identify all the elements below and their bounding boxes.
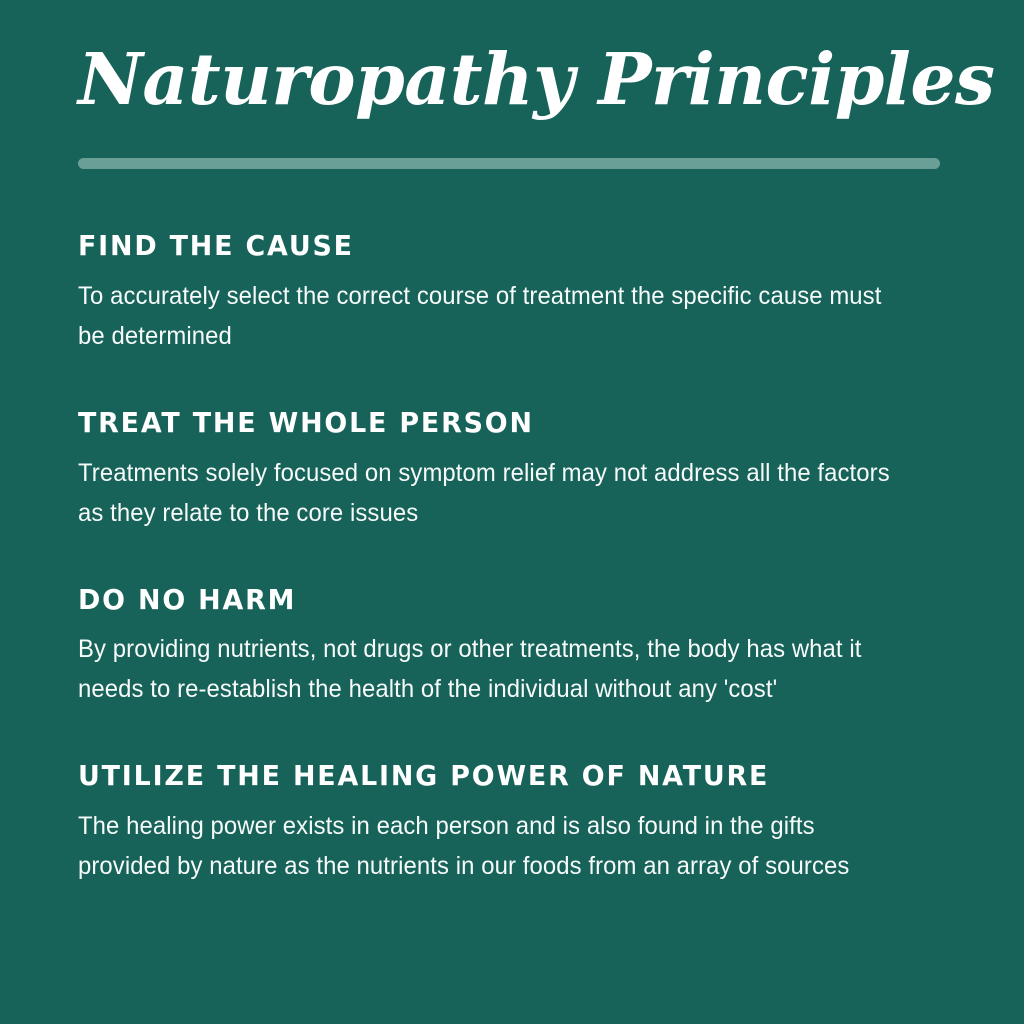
principle-body: The healing power exists in each person …: [78, 806, 907, 886]
principle-body: To accurately select the correct course …: [78, 276, 907, 356]
principle-heading: FIND THE CAUSE: [78, 231, 911, 262]
principle-body: By providing nutrients, not drugs or oth…: [78, 629, 907, 709]
poster-canvas: Naturopathy Principles FIND THE CAUSE To…: [0, 0, 1024, 1024]
principle-body: Treatments solely focused on symptom rel…: [78, 453, 907, 533]
principle-item: DO NO HARM By providing nutrients, not d…: [78, 585, 946, 710]
principle-item: TREAT THE WHOLE PERSON Treatments solely…: [78, 408, 946, 533]
principle-heading: UTILIZE THE HEALING POWER OF NATURE: [78, 761, 911, 792]
principle-item: UTILIZE THE HEALING POWER OF NATURE The …: [78, 761, 946, 886]
title-divider: [78, 158, 940, 169]
title-block: Naturopathy Principles: [78, 0, 946, 115]
principle-heading: TREAT THE WHOLE PERSON: [78, 408, 911, 439]
principles-list: FIND THE CAUSE To accurately select the …: [78, 231, 946, 886]
principle-item: FIND THE CAUSE To accurately select the …: [78, 231, 946, 356]
page-title: Naturopathy Principles: [78, 44, 946, 115]
principle-heading: DO NO HARM: [78, 585, 911, 616]
